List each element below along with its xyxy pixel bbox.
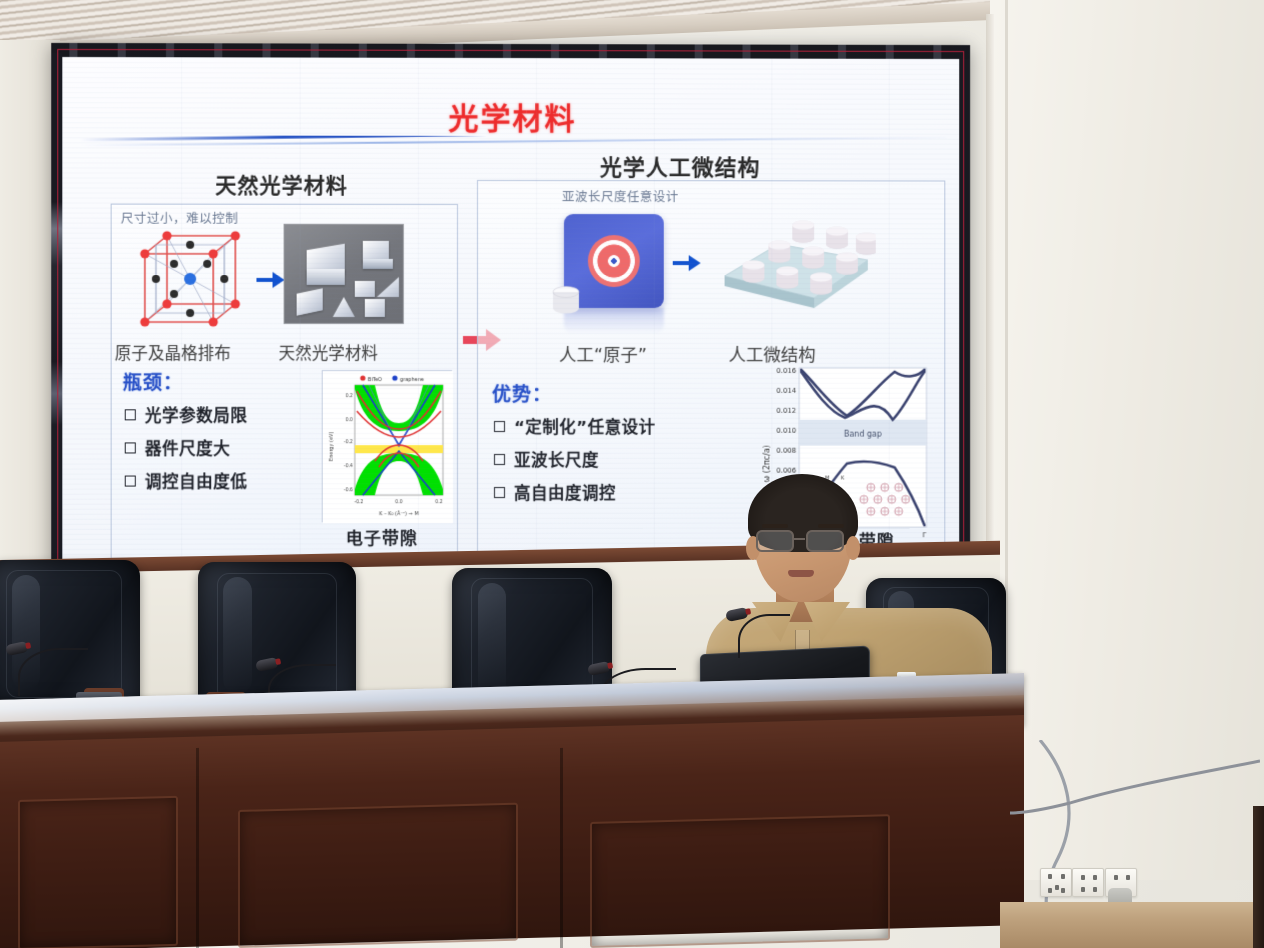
svg-text:Energy (eV): Energy (eV) [329, 432, 335, 462]
desk-inset-panel-2 [238, 803, 518, 948]
checkbox-icon [494, 421, 505, 432]
svg-text:Band gap: Band gap [844, 430, 882, 439]
floor-skirting [1000, 902, 1264, 948]
bullet-item: 器件尺度大 [125, 435, 248, 459]
section-heading-natural: 天然光学材料 [215, 170, 348, 200]
bullet-label: “定制化”任意设计 [514, 418, 656, 437]
note-subwavelength-design: 亚波长尺度任意设计 [562, 186, 679, 205]
glasses-lens-right [806, 530, 844, 552]
checkbox-icon [125, 476, 136, 487]
svg-text:0.008: 0.008 [776, 446, 796, 455]
checkbox-icon [494, 487, 505, 498]
svg-text:-0.4: -0.4 [344, 463, 353, 469]
eyebrow-left [762, 524, 788, 528]
caption-atoms-lattice: 原子及晶格排布 [115, 340, 231, 364]
svg-text:-0.2: -0.2 [354, 499, 363, 505]
mouth [788, 570, 814, 577]
bullet-list-bottleneck: 光学参数局限 器件尺度大 调控自由度低 [125, 402, 248, 501]
bullet-label: 光学参数局限 [145, 406, 248, 425]
bullet-label: 调控自由度低 [145, 472, 248, 491]
power-outlet-2[interactable] [1072, 868, 1104, 897]
caption-electronic-bandgap: 电子带隙 [346, 524, 418, 549]
svg-text:K – K₀ (Å⁻¹) → M: K – K₀ (Å⁻¹) → M [379, 510, 418, 517]
note-size-limitation: 尺寸过小，难以控制 [121, 208, 239, 227]
bullet-label: 高自由度调控 [514, 484, 616, 503]
bullet-item: 调控自由度低 [125, 468, 248, 492]
bullet-item: 光学参数局限 [125, 402, 248, 426]
conference-room-scene: 光学材料 天然光学材料 光学人工微结构 尺寸过小，难以控制 [0, 0, 1264, 948]
bullet-item: “定制化”任意设计 [494, 414, 656, 438]
microphone-4 [738, 614, 790, 658]
subhead-bottleneck: 瓶颈： [123, 368, 183, 395]
desk-seam-2 [560, 748, 563, 948]
svg-text:0.016: 0.016 [776, 366, 796, 375]
svg-text:BiTeO: BiTeO [368, 377, 382, 383]
svg-text:0.0: 0.0 [395, 499, 402, 505]
checkbox-icon [494, 454, 505, 465]
bullet-label: 亚波长尺度 [514, 451, 599, 470]
subhead-advantages: 优势： [492, 380, 552, 407]
svg-text:0.2: 0.2 [345, 393, 352, 399]
glasses-bridge [793, 538, 805, 540]
desk-inset-panel-1 [18, 796, 178, 948]
door-edge [1253, 806, 1264, 948]
ear-right [846, 536, 860, 560]
checkbox-icon [125, 442, 136, 453]
svg-text:0.2: 0.2 [435, 499, 442, 505]
arrow-right-icon [255, 270, 285, 290]
microphone-1 [18, 648, 88, 696]
eyebrow-right [818, 524, 844, 528]
electronic-band-structure-chart: BiTeO graphene [322, 370, 452, 522]
svg-text:0.012: 0.012 [776, 406, 796, 415]
glasses-lens-left [756, 530, 794, 552]
title-accent-line [80, 135, 946, 152]
svg-text:graphene: graphene [400, 377, 424, 383]
checkbox-icon [125, 409, 136, 420]
slide-title: 光学材料 [62, 93, 959, 139]
natural-crystals-photo [284, 224, 404, 324]
caption-artificial-atom: 人工“原子” [559, 342, 647, 367]
svg-text:0.010: 0.010 [776, 426, 796, 435]
projector-cable [1010, 755, 1260, 815]
caption-natural-materials: 天然光学材料 [279, 340, 378, 364]
power-outlet-1[interactable] [1040, 868, 1072, 897]
display-bezel-left [51, 53, 62, 585]
desk-inset-panel-3 [590, 814, 890, 948]
svg-text:-0.6: -0.6 [344, 487, 353, 493]
bullet-item: 亚波长尺度 [494, 447, 656, 471]
svg-text:-0.2: -0.2 [344, 439, 353, 445]
crystal-lattice-diagram [125, 226, 254, 341]
concentric-rings-icon [588, 235, 640, 287]
bullet-label: 器件尺度大 [145, 439, 230, 458]
svg-text:0.014: 0.014 [776, 386, 796, 395]
bullet-list-advantages: “定制化”任意设计 亚波长尺度 高自由度调控 [494, 414, 656, 513]
bullet-item: 高自由度调控 [494, 480, 656, 504]
metasurface-array-graphic [717, 208, 876, 316]
svg-text:0.0: 0.0 [345, 417, 352, 423]
section-heading-metamaterial: 光学人工微结构 [600, 150, 761, 182]
desk-seam-1 [196, 748, 199, 948]
nanopillar-icon [551, 285, 581, 316]
arrow-right-icon [672, 253, 702, 273]
